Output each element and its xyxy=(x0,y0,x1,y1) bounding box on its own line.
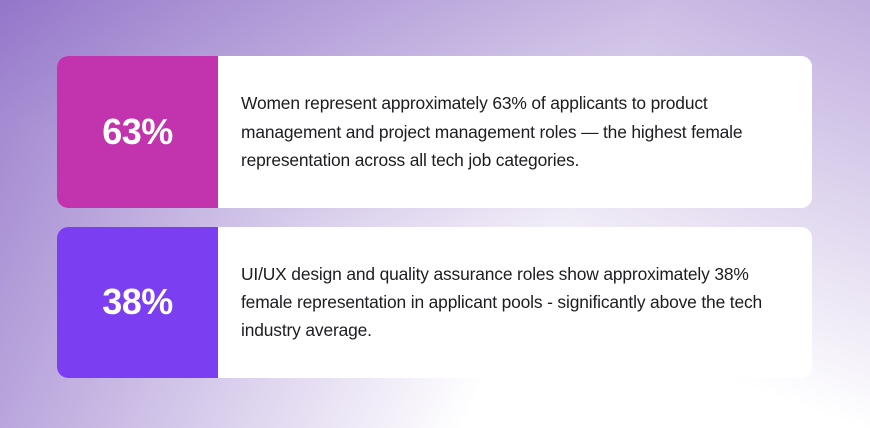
stat-card: 38% UI/UX design and quality assurance r… xyxy=(57,227,812,379)
stat-badge: 63% xyxy=(57,56,218,208)
stat-body: Women represent approximately 63% of app… xyxy=(218,56,812,208)
stat-card-list: 63% Women represent approximately 63% of… xyxy=(0,0,870,428)
stat-description: UI/UX design and quality assurance roles… xyxy=(241,260,796,345)
stat-description: Women represent approximately 63% of app… xyxy=(241,89,796,174)
stat-badge: 38% xyxy=(57,227,218,379)
stat-percentage: 63% xyxy=(102,114,173,150)
infographic-canvas: 63% Women represent approximately 63% of… xyxy=(0,0,870,428)
stat-body: UI/UX design and quality assurance roles… xyxy=(218,227,812,379)
stat-card: 63% Women represent approximately 63% of… xyxy=(57,56,812,208)
stat-percentage: 38% xyxy=(102,284,173,320)
